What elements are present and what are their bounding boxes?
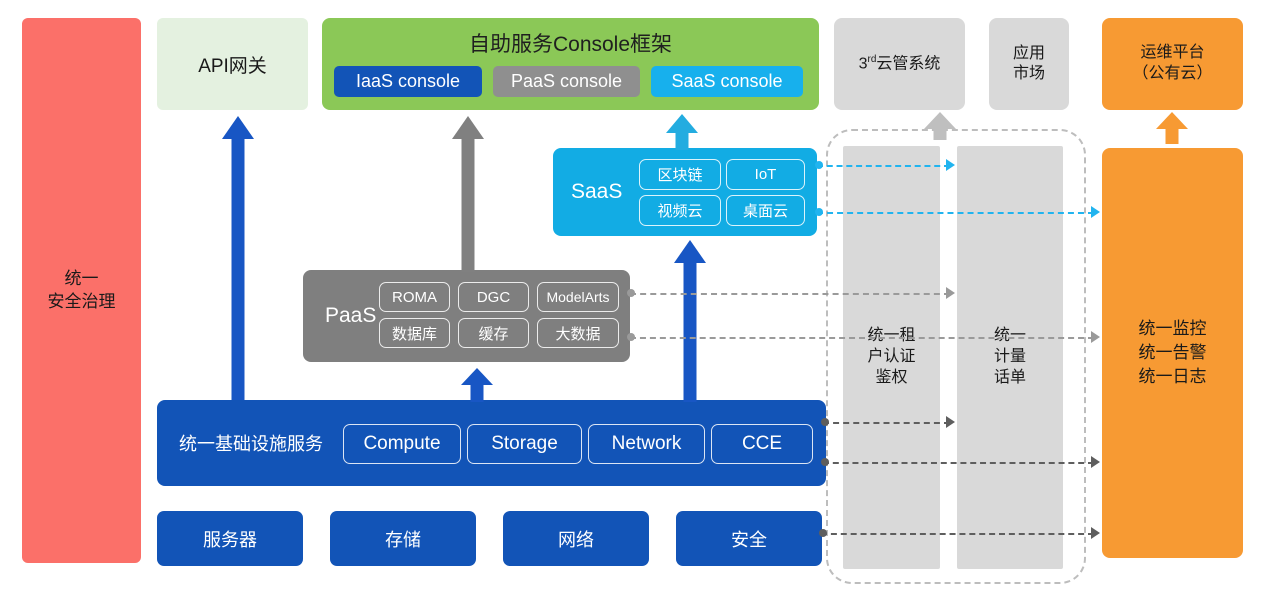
- saas-item-video-cloud[interactable]: 视频云: [639, 195, 721, 226]
- saas-item-iot-label: IoT: [755, 166, 777, 183]
- iaas-item-compute-label: Compute: [363, 433, 440, 455]
- connector-hardware-to-ops: [821, 533, 1094, 535]
- saas-layer: SaaS 区块链 IoT 视频云 桌面云: [553, 148, 817, 236]
- iaas-item-cce[interactable]: CCE: [711, 424, 813, 464]
- paas-item-dgc[interactable]: DGC: [458, 282, 529, 312]
- hardware-storage-label: 存储: [385, 526, 421, 552]
- app-market-line1: 应用: [1013, 44, 1045, 64]
- paas-label: PaaS: [325, 304, 376, 328]
- arrow-up-to-ops-platform: [1156, 112, 1188, 144]
- connector-iaas-to-ops: [823, 462, 1094, 464]
- unified-ops-panel: 统一监控 统一告警 统一日志: [1102, 148, 1243, 558]
- arrow-up-to-third-party: [924, 112, 956, 140]
- connector-saas-to-ops: [817, 212, 1094, 214]
- arrow-iaas-to-saas: [674, 240, 706, 402]
- paas-item-dgc-label: DGC: [477, 289, 510, 306]
- saas-console-chip[interactable]: SaaS console: [651, 66, 803, 97]
- connector-iaas-to-auth: [823, 422, 950, 424]
- ops-platform-public-cloud-box: 运维平台 （公有云）: [1102, 18, 1243, 110]
- hardware-server-label: 服务器: [203, 526, 257, 552]
- connector-paas-to-ops-arrowhead: [1091, 331, 1100, 343]
- iaas-item-storage[interactable]: Storage: [467, 424, 582, 464]
- connector-paas-to-auth: [630, 293, 950, 295]
- iaas-item-network[interactable]: Network: [588, 424, 705, 464]
- self-service-console-frame: 自助服务Console框架 IaaS console PaaS console …: [322, 18, 819, 110]
- paas-item-bigdata-label: 大数据: [555, 323, 600, 344]
- architecture-diagram: 统一 安全治理 API网关 自助服务Console框架 IaaS console…: [0, 0, 1265, 605]
- auth-line3: 鉴权: [875, 368, 907, 389]
- arrow-iaas-to-paas: [461, 368, 493, 402]
- security-governance-panel: 统一 安全治理: [22, 18, 141, 563]
- security-governance-line1: 统一: [65, 268, 99, 291]
- paas-item-bigdata[interactable]: 大数据: [537, 318, 619, 348]
- api-gateway-label: API网关: [198, 51, 267, 78]
- iaas-item-network-label: Network: [612, 433, 682, 455]
- connector-paas-to-ops-dot: [627, 333, 635, 341]
- saas-label: SaaS: [571, 180, 622, 204]
- connector-saas-to-auth-arrowhead: [946, 159, 955, 171]
- paas-item-roma[interactable]: ROMA: [379, 282, 450, 312]
- connector-saas-to-ops-arrowhead: [1091, 206, 1100, 218]
- connector-iaas-to-ops-arrowhead: [1091, 456, 1100, 468]
- paas-console-chip[interactable]: PaaS console: [493, 66, 640, 97]
- connector-saas-to-auth: [817, 165, 950, 167]
- third-party-cloud-mgmt-box: 3rd云管系统: [834, 18, 965, 110]
- arrow-paas-to-console: [452, 116, 484, 272]
- paas-layer: PaaS ROMA DGC ModelArts 数据库 缓存 大数据: [303, 270, 630, 362]
- connector-iaas-to-auth-dot: [821, 418, 829, 426]
- arrow-iaas-to-api-gateway: [222, 116, 254, 400]
- connector-hardware-to-ops-arrowhead: [1091, 527, 1100, 539]
- paas-item-modelarts-label: ModelArts: [546, 289, 609, 305]
- saas-console-label: SaaS console: [671, 71, 782, 92]
- paas-item-database-label: 数据库: [392, 323, 437, 344]
- ops-platform-line1: 运维平台: [1140, 43, 1204, 64]
- hardware-security-label: 安全: [731, 526, 767, 552]
- iaas-item-storage-label: Storage: [491, 433, 558, 455]
- api-gateway-box: API网关: [157, 18, 308, 110]
- paas-item-cache[interactable]: 缓存: [458, 318, 529, 348]
- hardware-network-label: 网络: [558, 526, 594, 552]
- connector-saas-to-auth-dot: [815, 161, 823, 169]
- connector-iaas-to-ops-dot: [821, 458, 829, 466]
- connector-hardware-to-ops-dot: [819, 529, 827, 537]
- saas-item-desktop-cloud[interactable]: 桌面云: [726, 195, 805, 226]
- app-market-box: 应用 市场: [989, 18, 1069, 110]
- iaas-item-cce-label: CCE: [742, 433, 782, 455]
- saas-item-blockchain-label: 区块链: [657, 164, 702, 185]
- connector-saas-to-ops-dot: [815, 208, 823, 216]
- hardware-box-storage[interactable]: 存储: [330, 511, 476, 566]
- hardware-box-security[interactable]: 安全: [676, 511, 822, 566]
- saas-item-iot[interactable]: IoT: [726, 159, 805, 190]
- ops-line2: 统一告警: [1139, 341, 1207, 365]
- third-party-label: 3rd云管系统: [859, 54, 941, 74]
- auth-line2: 户认证: [867, 347, 915, 368]
- ops-line1: 统一监控: [1139, 317, 1207, 341]
- paas-console-label: PaaS console: [511, 71, 622, 92]
- connector-iaas-to-auth-arrowhead: [946, 416, 955, 428]
- app-market-line2: 市场: [1013, 64, 1045, 84]
- billing-line2: 计量: [994, 347, 1026, 368]
- iaas-label: 统一基础设施服务: [179, 430, 323, 456]
- unified-tenant-auth-column: 统一租 户认证 鉴权: [843, 146, 940, 569]
- saas-item-video-cloud-label: 视频云: [657, 200, 702, 221]
- connector-paas-to-ops: [630, 337, 1094, 339]
- saas-item-blockchain[interactable]: 区块链: [639, 159, 721, 190]
- iaas-console-chip[interactable]: IaaS console: [334, 66, 482, 97]
- ops-platform-line2: （公有云）: [1132, 64, 1212, 85]
- ops-line3: 统一日志: [1139, 365, 1207, 389]
- hardware-box-network[interactable]: 网络: [503, 511, 649, 566]
- paas-item-modelarts[interactable]: ModelArts: [537, 282, 619, 312]
- arrow-saas-to-console: [666, 114, 698, 150]
- console-frame-title: 自助服务Console框架: [322, 28, 819, 58]
- billing-line3: 话单: [994, 368, 1026, 389]
- connector-paas-to-auth-dot: [627, 289, 635, 297]
- saas-item-desktop-cloud-label: 桌面云: [743, 200, 788, 221]
- iaas-console-label: IaaS console: [356, 71, 460, 92]
- connector-paas-to-auth-arrowhead: [946, 287, 955, 299]
- paas-item-database[interactable]: 数据库: [379, 318, 450, 348]
- unified-metering-billing-column: 统一 计量 话单: [957, 146, 1063, 569]
- paas-item-roma-label: ROMA: [392, 289, 437, 306]
- iaas-layer: 统一基础设施服务 Compute Storage Network CCE: [157, 400, 826, 486]
- hardware-box-server[interactable]: 服务器: [157, 511, 303, 566]
- security-governance-line2: 安全治理: [48, 291, 116, 314]
- paas-item-cache-label: 缓存: [478, 323, 508, 344]
- iaas-item-compute[interactable]: Compute: [343, 424, 461, 464]
